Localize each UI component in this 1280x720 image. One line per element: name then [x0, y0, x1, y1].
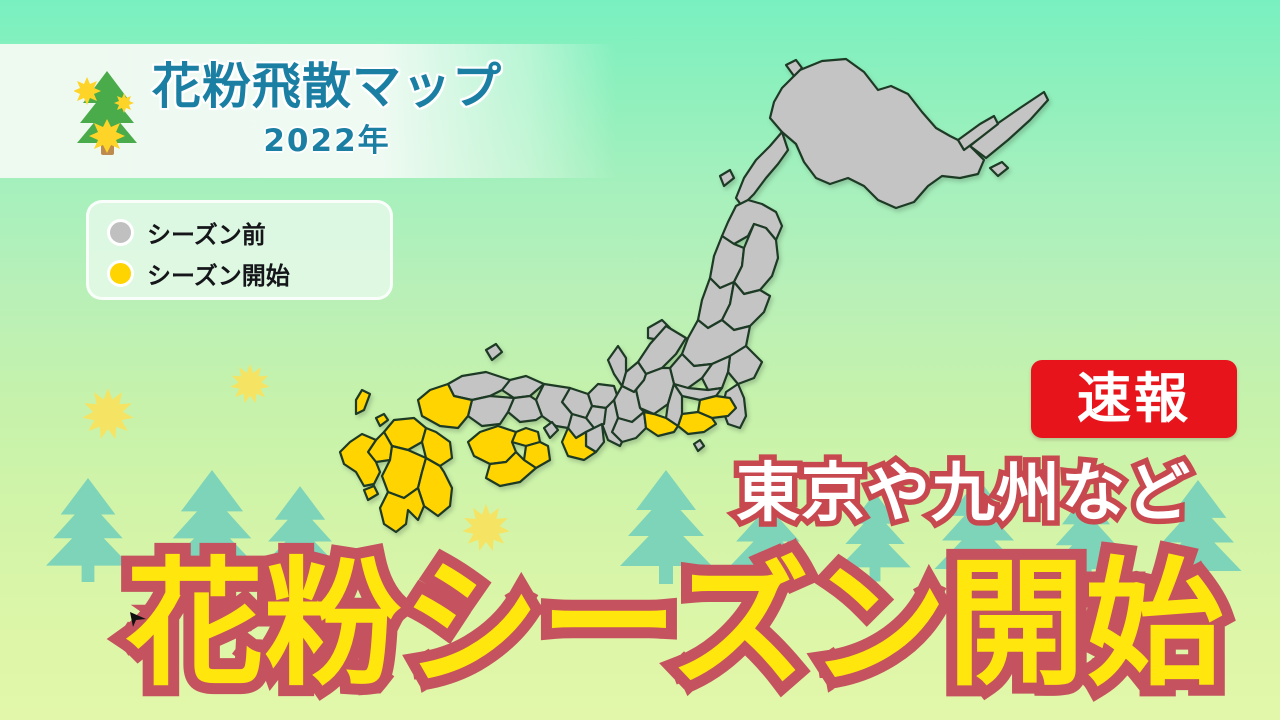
map-island-iki [376, 414, 388, 426]
decor-tree-icon [42, 478, 134, 582]
legend-item-pre-season[interactable]: シーズン前 [107, 212, 390, 253]
map-island-okushiri [720, 170, 734, 186]
map-region-hiroshima[interactable] [468, 396, 514, 426]
map-island-oki [486, 344, 502, 360]
map-region-ishikawa[interactable] [608, 346, 626, 386]
legend-label-season-started: シーズン開始 [147, 256, 290, 291]
page-title: 花粉飛散マップ [152, 62, 502, 112]
status-badge-label: 速報 [1077, 372, 1191, 426]
pollen-burst-icon [230, 364, 270, 404]
legend-swatch-pre-season [107, 219, 134, 246]
status-badge: 速報 [1031, 360, 1237, 438]
headline-text: 花粉シーズン開始 [126, 556, 1223, 694]
subtitle-text: 東京や九州など [736, 462, 1191, 526]
cursor-arrow-icon [130, 612, 148, 632]
map-island-izu-oshima [694, 440, 704, 451]
legend-label-pre-season: シーズン前 [147, 215, 266, 250]
legend-swatch-season-started [107, 260, 134, 287]
map-region-nagasaki[interactable] [340, 434, 380, 486]
broadcast-graphic-stage: 花粉飛散マップ 2022年 シーズン前 シーズン開始 速報 東京や九州など 花粉… [0, 0, 1280, 720]
page-title-year: 2022年 [263, 115, 390, 160]
map-island-amakusa [364, 486, 378, 500]
map-region-hyogo[interactable] [536, 384, 572, 428]
pollen-burst-icon [82, 388, 134, 440]
map-island-tsushima [356, 390, 370, 414]
map-region-hokkaido[interactable] [770, 59, 984, 208]
pollen-tree-icon [74, 65, 140, 161]
map-legend: シーズン前 シーズン開始 [86, 200, 393, 300]
map-island-shikotan [990, 162, 1008, 176]
map-region-oshima [736, 132, 788, 206]
legend-item-season-started[interactable]: シーズン開始 [107, 253, 390, 294]
title-banner: 花粉飛散マップ 2022年 [0, 44, 616, 178]
